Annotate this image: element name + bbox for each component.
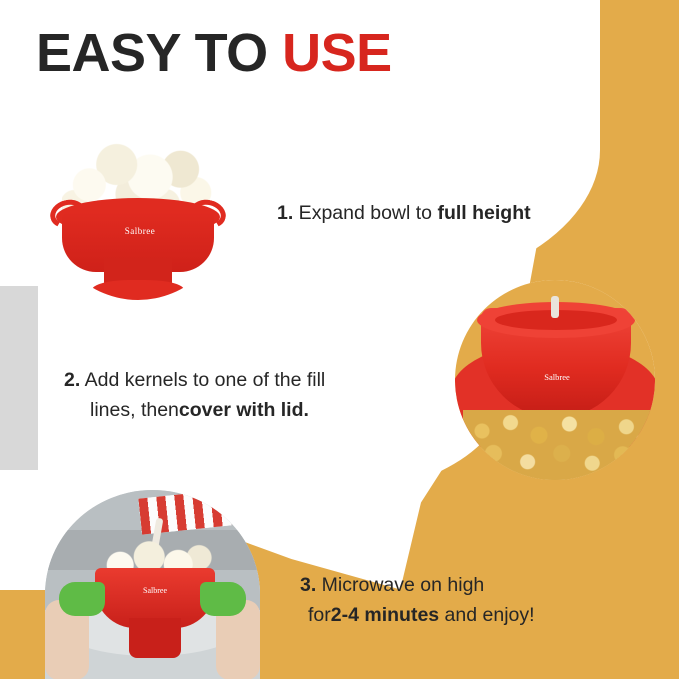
title-accent: USE (282, 23, 392, 83)
step-1-image: Salbree (48, 120, 228, 300)
brand-label: Salbree (100, 226, 180, 236)
brand-label-3: Salbree (115, 586, 195, 595)
step-1-text-plain: Expand bowl to (293, 202, 437, 224)
oven-mitt-right-icon (200, 582, 246, 616)
step-3-number: 3. (300, 574, 316, 596)
oven-mitt-left-icon (59, 582, 105, 616)
step-2-line1: Add kernels to one of the fill (80, 369, 325, 391)
infographic-canvas: EASY TO USE Salbree 1. Expand bowl to fu… (0, 0, 679, 679)
step-2-line2-plain: lines, then (64, 395, 179, 425)
bowl-neck-3 (129, 618, 181, 658)
bowl-base (92, 280, 184, 300)
step-2-line2-bold: cover with lid. (179, 399, 309, 421)
corn-kernels-icon (463, 410, 653, 480)
step-3-line1: Microwave on high (316, 574, 484, 596)
lid-handle-icon (551, 296, 559, 318)
step-1-text: 1. Expand bowl to full height (277, 198, 667, 228)
brand-label-2: Salbree (515, 372, 599, 382)
title-part-1: EASY TO (36, 23, 282, 83)
step-3-image: Salbree (45, 490, 260, 679)
step-2-text: 2. Add kernels to one of the fill lines,… (64, 365, 464, 425)
step-1-text-bold: full height (437, 202, 530, 224)
step-3-line2-bold: 2-4 minutes (331, 604, 439, 626)
page-title: EASY TO USE (36, 22, 392, 84)
step-3-line2-before: for (300, 600, 331, 630)
step-1-number: 1. (277, 202, 293, 224)
step-3-text: 3. Microwave on high for 2-4 minutes and… (300, 570, 660, 630)
step-3-line2-after: and enjoy! (439, 604, 534, 626)
step-2-image: Salbree (455, 280, 655, 480)
step-2-number: 2. (64, 369, 80, 391)
